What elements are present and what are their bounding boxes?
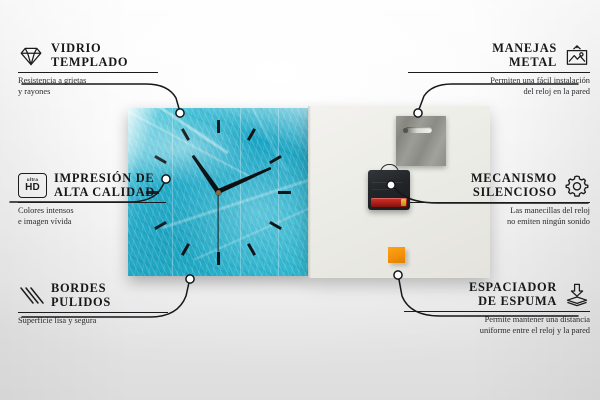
feature-title: IMPRESIÓN DE ALTA CALIDAD	[54, 172, 155, 199]
feature-description: Superficie lisa y segura	[18, 316, 168, 327]
feature-rule	[18, 312, 168, 313]
feature-description: Resistencia a grietas y rayones	[18, 76, 158, 97]
polished-edges-icon	[18, 283, 44, 309]
feature-header: ultra HD IMPRESIÓN DE ALTA CALIDAD	[18, 172, 166, 199]
feature-title: VIDRIO TEMPLADO	[51, 42, 128, 69]
infographic-canvas: VIDRIO TEMPLADO Resistencia a grietas y …	[0, 0, 600, 400]
feature-manejas-metal: MANEJAS METAL Permiten una fácil instala…	[408, 42, 590, 97]
feature-header: MANEJAS METAL	[408, 42, 590, 69]
foam-spacer-icon	[564, 282, 590, 308]
feature-description: Permite mantener una distancia uniforme …	[404, 315, 590, 336]
feature-description: Permiten una fácil instalación del reloj…	[408, 76, 590, 97]
feature-rule	[408, 72, 590, 73]
feature-rule	[410, 202, 590, 203]
feature-description: Las manecillas del reloj no emiten ningú…	[410, 206, 590, 227]
feature-header: BORDES PULIDOS	[18, 282, 168, 309]
feature-title: ESPACIADOR DE ESPUMA	[469, 281, 557, 308]
feature-vidrio-templado: VIDRIO TEMPLADO Resistencia a grietas y …	[18, 42, 158, 97]
feature-header: ESPACIADOR DE ESPUMA	[404, 281, 590, 308]
gear-icon	[564, 173, 590, 199]
feature-impresion-alta-calidad: ultra HD IMPRESIÓN DE ALTA CALIDAD Color…	[18, 172, 166, 227]
feature-rule	[18, 72, 158, 73]
ultra-hd-icon: ultra HD	[18, 173, 47, 199]
feature-espaciador-espuma: ESPACIADOR DE ESPUMA Permite mantener un…	[404, 281, 590, 336]
ultra-hd-icon-main-label: HD	[25, 183, 40, 193]
feature-rule	[18, 202, 166, 203]
picture-hanger-icon	[564, 43, 590, 69]
feature-title: BORDES PULIDOS	[51, 282, 111, 309]
diamond-icon	[18, 43, 44, 69]
feature-bordes-pulidos: BORDES PULIDOS Superficie lisa y segura	[18, 282, 168, 327]
feature-title: MANEJAS METAL	[492, 42, 557, 69]
feature-header: VIDRIO TEMPLADO	[18, 42, 158, 69]
feature-header: MECANISMO SILENCIOSO	[410, 172, 590, 199]
feature-rule	[404, 311, 590, 312]
feature-mecanismo-silencioso: MECANISMO SILENCIOSO Las manecillas del …	[410, 172, 590, 227]
feature-description: Colores intensos e imagen vívida	[18, 206, 166, 227]
feature-title: MECANISMO SILENCIOSO	[471, 172, 557, 199]
